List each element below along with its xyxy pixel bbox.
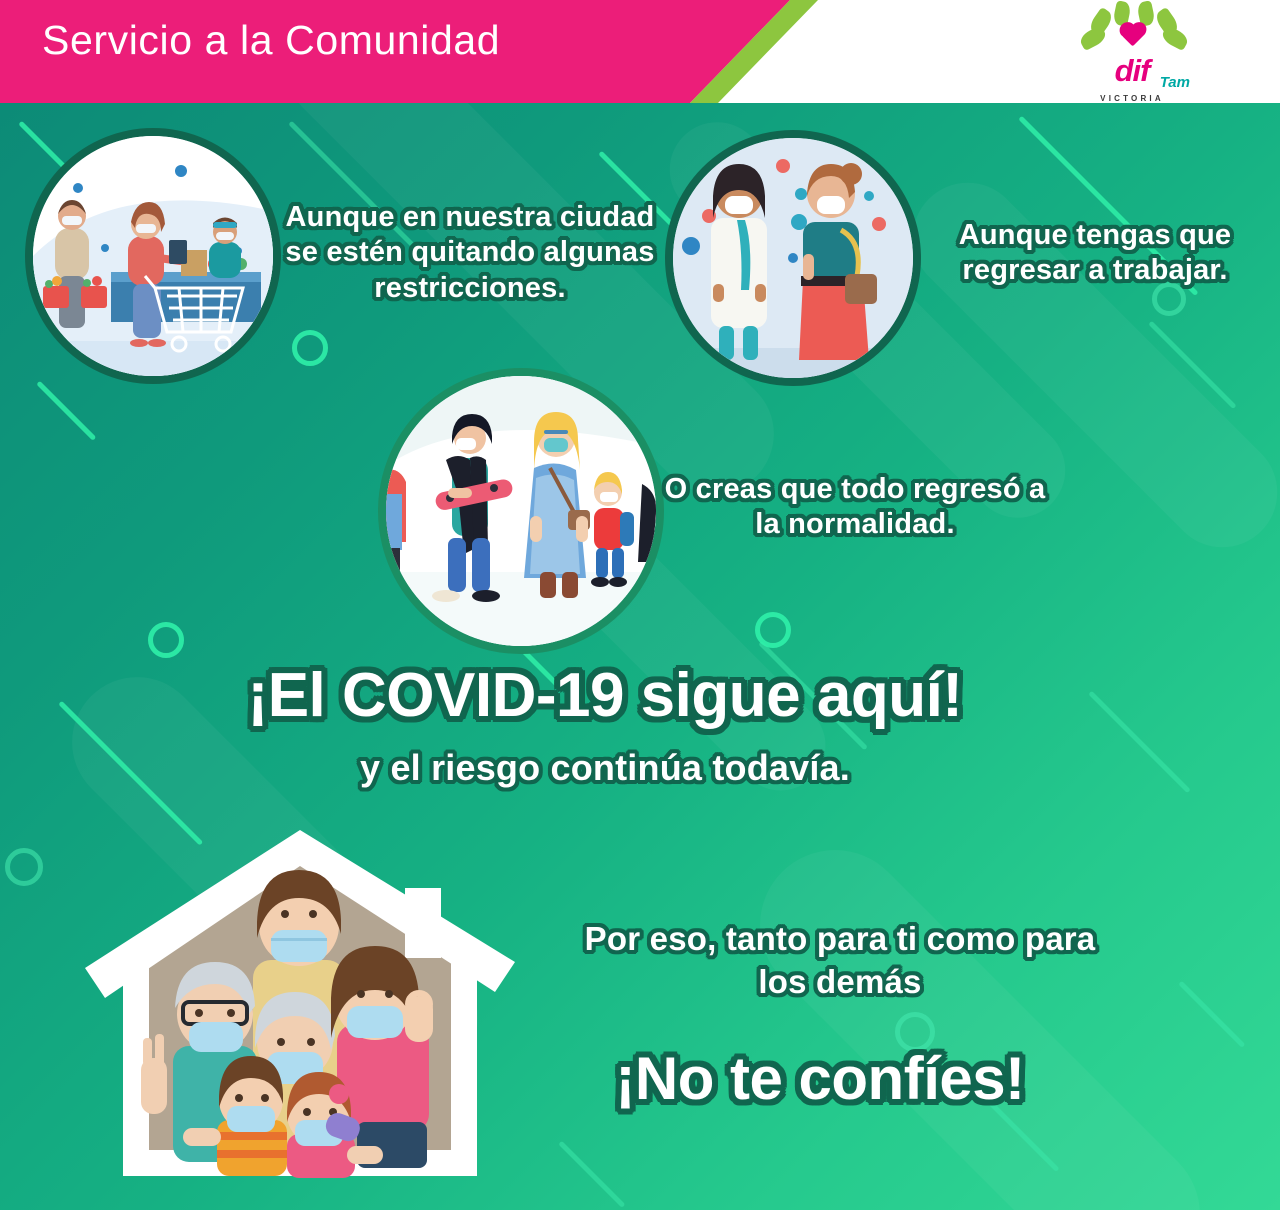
leaf-icon xyxy=(1160,25,1190,51)
panel-store-text: Aunque en nuestra ciudad se estén quitan… xyxy=(275,200,665,306)
heart-icon xyxy=(1122,25,1144,47)
deco-line xyxy=(1148,321,1236,409)
family-wearing-masks-inside-house-illustration xyxy=(75,810,525,1190)
panel-work-text: Aunque tengas que regresar a trabajar. xyxy=(930,218,1260,289)
footer-family-house-image xyxy=(75,810,525,1190)
deco-line xyxy=(558,1141,625,1208)
two-women-with-masks-going-to-work-illustration xyxy=(673,138,913,378)
panel-street-image xyxy=(378,368,664,654)
poster-root: Servicio a la Comunidad dif Tam VICTORIA xyxy=(0,0,1280,1210)
dif-logo: dif Tam VICTORIA xyxy=(1068,4,1196,103)
supermarket-shoppers-with-masks-illustration xyxy=(33,136,273,376)
panel-work-image xyxy=(665,130,921,386)
poster-header: Servicio a la Comunidad dif Tam VICTORIA xyxy=(0,0,1280,103)
deco-ring xyxy=(292,330,328,366)
panel-street-text: O creas que todo regresó a la normalidad… xyxy=(660,472,1050,543)
deco-line xyxy=(36,381,96,441)
deco-band xyxy=(729,819,1231,1210)
deco-ring xyxy=(5,848,43,886)
logo-state: Tam xyxy=(1160,74,1190,91)
footer-message: Por eso, tanto para ti como para los dem… xyxy=(560,918,1120,1004)
page-title: Servicio a la Comunidad xyxy=(42,17,500,64)
headline-main: ¡El COVID-19 sigue aquí! xyxy=(0,658,1210,734)
headline-sub: y el riesgo continúa todavía. xyxy=(0,746,1210,790)
logo-municipality: VICTORIA xyxy=(1068,94,1196,103)
call-to-action: ¡No te confíes! xyxy=(480,1042,1160,1115)
deco-ring xyxy=(755,612,791,648)
people-walking-outdoors-with-masks-illustration xyxy=(386,376,656,646)
deco-line xyxy=(1178,981,1245,1048)
deco-ring xyxy=(148,622,184,658)
panel-store-image xyxy=(25,128,281,384)
